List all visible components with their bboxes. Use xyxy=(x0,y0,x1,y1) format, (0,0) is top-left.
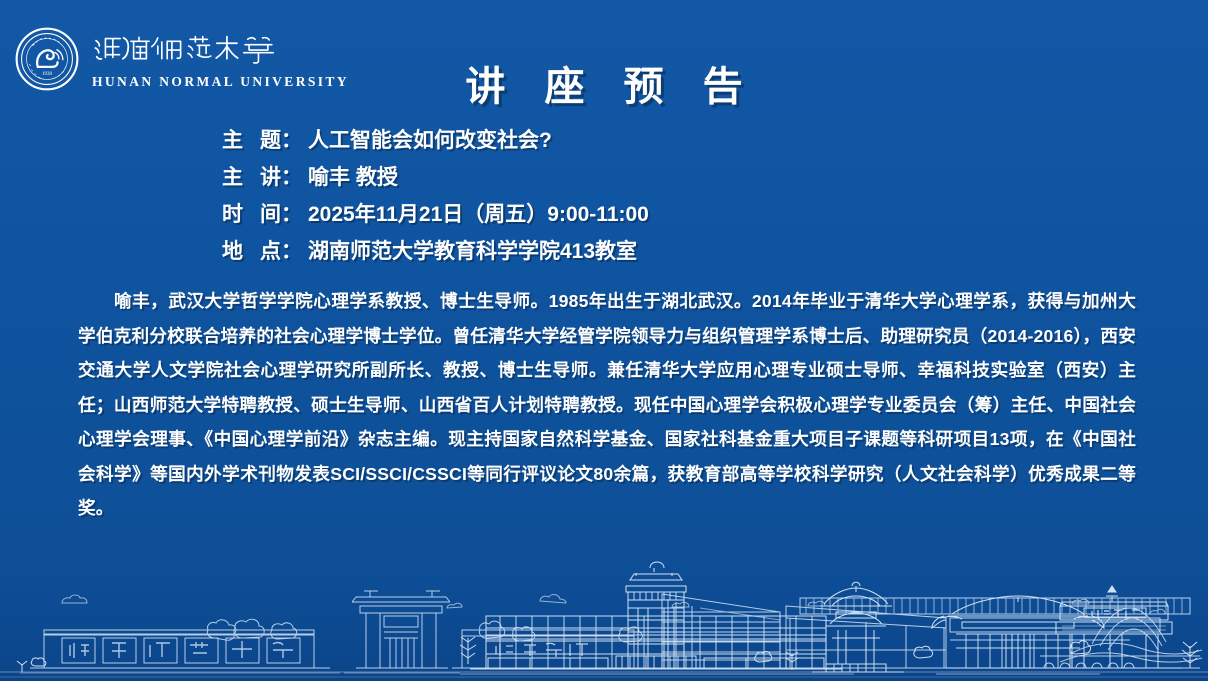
traditional-gate-hall xyxy=(932,596,1104,674)
poster-canvas: 1938 xyxy=(0,0,1208,681)
info-label-topic: 主题： xyxy=(222,124,308,154)
info-value-speaker: 喻丰 教授 xyxy=(308,161,1182,191)
info-label-location: 地点： xyxy=(222,235,308,265)
library-building xyxy=(640,594,1200,668)
mountain-silhouette xyxy=(1060,608,1202,662)
lecture-info-block: 主题： 人工智能会如何改变社会? 主讲： 喻丰 教授 时间： 2025年11月2… xyxy=(222,124,1182,272)
info-value-time: 2025年11月21日（周五）9:00-11:00 xyxy=(308,198,1182,228)
info-label-speaker: 主讲： xyxy=(222,161,308,191)
arch-row xyxy=(1044,663,1134,668)
info-label-time: 时间： xyxy=(222,198,308,228)
hillside-pavilion xyxy=(812,582,904,672)
speaker-biography: 喻丰，武汉大学哲学学院心理学系教授、博士生导师。1985年出生于湖北武汉。201… xyxy=(78,284,1136,526)
tree-cluster-left xyxy=(207,619,642,642)
cloud-decorations xyxy=(62,595,1165,614)
tree-cluster-right xyxy=(755,641,1198,670)
skyline-svg xyxy=(0,546,1208,681)
info-row-speaker: 主讲： 喻丰 教授 xyxy=(222,161,1182,198)
campus-skyline-illustration xyxy=(0,546,1208,681)
campus-entrance-sign xyxy=(20,630,340,673)
shrub-cluster-left xyxy=(17,658,46,672)
info-value-location: 湖南师范大学教育科学学院413教室 xyxy=(308,235,1182,265)
south-gate xyxy=(1050,586,1182,668)
tree-right-of-library xyxy=(460,637,476,664)
main-building xyxy=(460,562,854,674)
info-row-location: 地点： 湖南师范大学教育科学学院413教室 xyxy=(222,235,1182,272)
poster-header: 1938 xyxy=(0,0,1208,120)
memorial-archway xyxy=(344,591,460,673)
info-row-topic: 主题： 人工智能会如何改变社会? xyxy=(222,124,1182,161)
page-title: 讲 座 预 告 xyxy=(0,54,1208,112)
lecture-hall xyxy=(452,630,644,668)
info-row-time: 时间： 2025年11月21日（周五）9:00-11:00 xyxy=(222,198,1182,235)
info-value-topic: 人工智能会如何改变社会? xyxy=(308,124,1182,154)
